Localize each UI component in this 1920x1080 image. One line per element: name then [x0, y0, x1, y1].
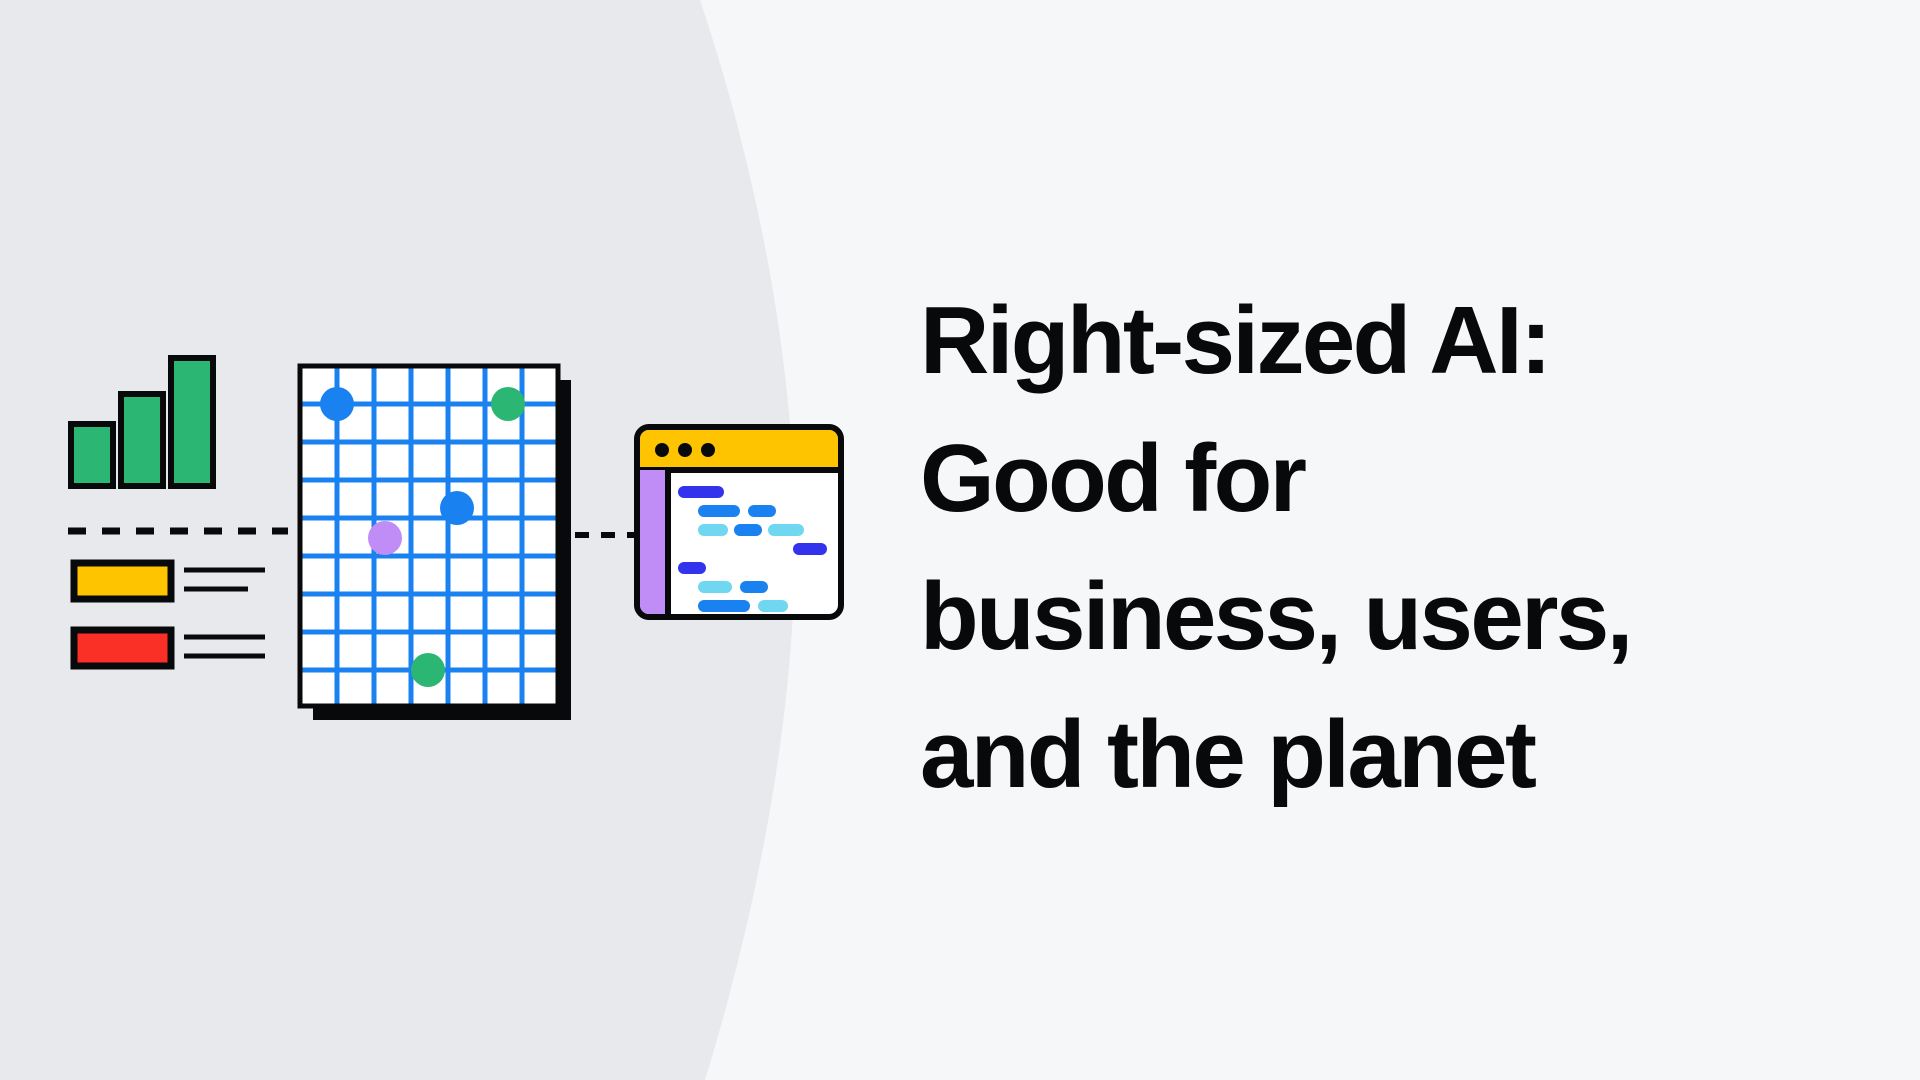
code-token: [678, 562, 706, 574]
bar-2: [121, 394, 163, 486]
code-token: [793, 543, 827, 555]
browser-code-window: [637, 427, 841, 617]
code-token: [758, 600, 788, 612]
code-token: [768, 524, 804, 536]
window-dot-3: [701, 443, 715, 457]
data-point-blue-1: [320, 387, 354, 421]
code-token: [698, 581, 732, 593]
bar-1: [71, 424, 113, 486]
growth-bar-chart: [71, 358, 213, 486]
code-token: [740, 581, 768, 593]
code-token: [678, 486, 724, 498]
headline-line-1: Right-sized AI:: [920, 272, 1780, 410]
scatter-grid-panel: [300, 366, 571, 720]
red-legend-row: [74, 630, 265, 666]
code-window-sidebar: [640, 470, 668, 614]
data-point-blue-2: [440, 491, 474, 525]
yellow-legend-row: [74, 563, 265, 599]
code-token: [698, 505, 740, 517]
bar-3: [171, 358, 213, 486]
code-token: [748, 505, 776, 517]
window-dot-1: [655, 443, 669, 457]
hero-banner: Right-sized AI: Good for business, users…: [0, 0, 1920, 1080]
headline-line-4: and the planet: [920, 686, 1780, 824]
code-token: [698, 600, 750, 612]
code-window-titlebar: [640, 430, 838, 470]
legend-swatch-red: [74, 630, 171, 666]
headline-line-2: Good for: [920, 410, 1780, 548]
window-control-dots: [655, 443, 715, 457]
data-point-green-1: [491, 387, 525, 421]
legend-swatches: [74, 563, 265, 666]
ai-efficiency-illustration: [0, 0, 900, 1080]
code-token: [698, 524, 728, 536]
window-dot-2: [678, 443, 692, 457]
headline-line-3: business, users,: [920, 548, 1780, 686]
code-token: [734, 524, 762, 536]
legend-swatch-yellow: [74, 563, 171, 599]
page-title: Right-sized AI: Good for business, users…: [920, 272, 1780, 824]
data-point-purple-1: [368, 521, 402, 555]
data-point-green-2: [411, 653, 445, 687]
